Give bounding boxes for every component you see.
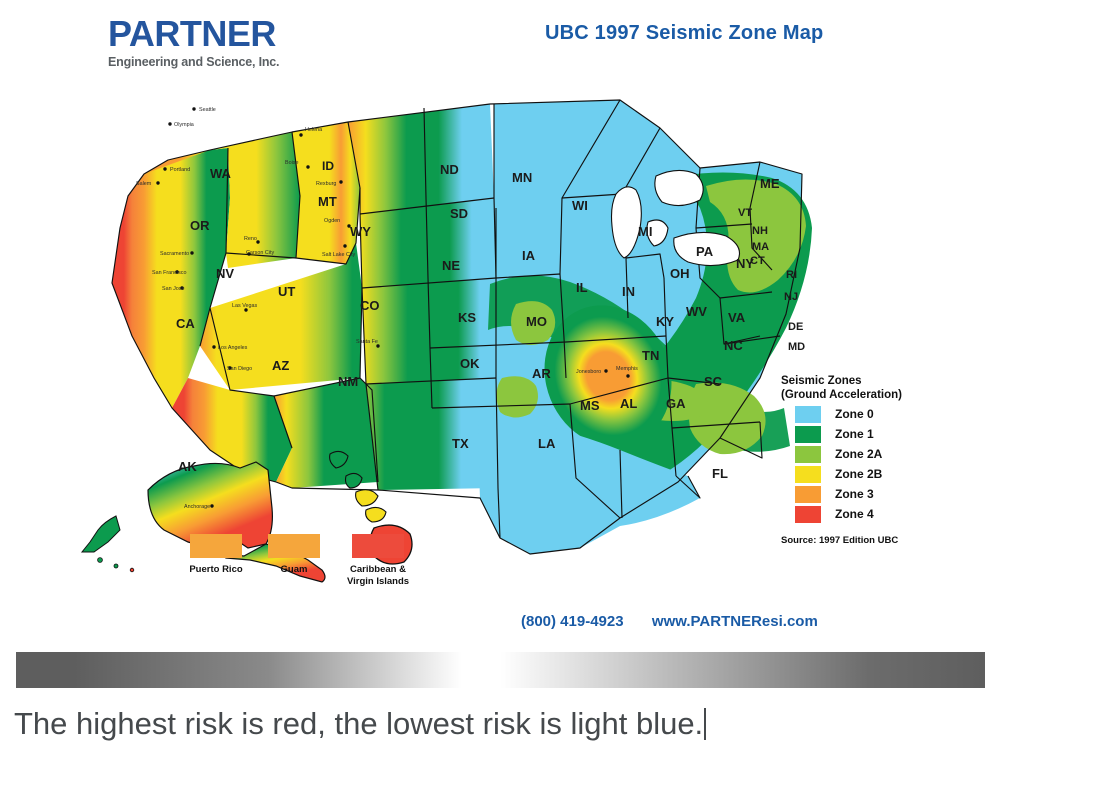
caption-text-line[interactable]: The highest risk is red, the lowest risk… bbox=[14, 706, 706, 742]
territory-label-caribbean: Caribbean &Virgin Islands bbox=[332, 564, 424, 588]
contact-phone[interactable]: (800) 419-4923 bbox=[521, 613, 624, 630]
legend-item-zone-0: Zone 0 bbox=[781, 406, 971, 423]
svg-text:NJ: NJ bbox=[784, 291, 798, 303]
caption-text: The highest risk is red, the lowest risk… bbox=[14, 706, 703, 741]
svg-text:WI: WI bbox=[572, 198, 588, 213]
legend-swatch-zone-2b bbox=[795, 466, 821, 483]
svg-text:Portland: Portland bbox=[170, 167, 190, 173]
svg-text:Sacramento: Sacramento bbox=[160, 251, 189, 257]
svg-text:AR: AR bbox=[532, 366, 551, 381]
legend-swatch-zone-0 bbox=[795, 406, 821, 423]
svg-text:Las Vegas: Las Vegas bbox=[232, 303, 257, 309]
svg-text:Seattle: Seattle bbox=[199, 107, 216, 113]
legend-swatch-zone-3 bbox=[795, 486, 821, 503]
territory-swatch-puerto-rico bbox=[190, 534, 242, 558]
legend-item-zone-1: Zone 1 bbox=[781, 426, 971, 443]
svg-text:Memphis: Memphis bbox=[616, 366, 638, 372]
legend-title-line2: (Ground Acceleration) bbox=[781, 388, 971, 402]
svg-text:Los Angeles: Los Angeles bbox=[218, 345, 248, 351]
svg-text:VA: VA bbox=[728, 310, 746, 325]
legend-label-zone-3: Zone 3 bbox=[835, 487, 874, 501]
svg-text:Salem: Salem bbox=[136, 181, 152, 187]
territory-swatch-caribbean bbox=[352, 534, 404, 558]
legend-item-zone-2a: Zone 2A bbox=[781, 446, 971, 463]
svg-text:AK: AK bbox=[178, 459, 197, 474]
legend-item-zone-3: Zone 3 bbox=[781, 486, 971, 503]
svg-text:Carson City: Carson City bbox=[246, 250, 274, 256]
svg-text:KY: KY bbox=[656, 314, 674, 329]
svg-text:NE: NE bbox=[442, 258, 460, 273]
zone-region-arizona bbox=[274, 378, 378, 488]
svg-text:SD: SD bbox=[450, 206, 468, 221]
svg-text:CA: CA bbox=[176, 316, 195, 331]
svg-text:OH: OH bbox=[670, 266, 690, 281]
svg-text:Santa Fe: Santa Fe bbox=[356, 339, 378, 345]
zone-region-idaho bbox=[292, 122, 360, 264]
svg-text:SC: SC bbox=[704, 374, 723, 389]
svg-text:NV: NV bbox=[216, 266, 234, 281]
brand-tagline: Engineering and Science, Inc. bbox=[108, 55, 408, 69]
svg-text:MS: MS bbox=[580, 398, 600, 413]
svg-text:MO: MO bbox=[526, 314, 547, 329]
legend-label-zone-2b: Zone 2B bbox=[835, 467, 882, 481]
text-cursor bbox=[704, 708, 706, 740]
svg-text:WY: WY bbox=[350, 224, 371, 239]
svg-text:GA: GA bbox=[666, 396, 686, 411]
legend-title-line1: Seismic Zones bbox=[781, 374, 971, 388]
svg-text:MT: MT bbox=[318, 194, 337, 209]
svg-text:NM: NM bbox=[338, 374, 358, 389]
seismic-zone-map: WA OR MT ID ND MN SD WI MI WY NV UT CO N… bbox=[60, 78, 820, 608]
svg-text:FL: FL bbox=[712, 466, 728, 481]
legend-item-zone-2b: Zone 2B bbox=[781, 466, 971, 483]
legend-label-zone-4: Zone 4 bbox=[835, 507, 874, 521]
us-map-svg: WA OR MT ID ND MN SD WI MI WY NV UT CO N… bbox=[60, 78, 820, 608]
zone-region-montana bbox=[348, 104, 494, 214]
svg-text:MD: MD bbox=[788, 341, 805, 353]
svg-text:RI: RI bbox=[786, 269, 797, 281]
svg-text:Salt Lake City: Salt Lake City bbox=[322, 252, 356, 258]
svg-text:Anchorage: Anchorage bbox=[184, 504, 210, 510]
svg-text:OK: OK bbox=[460, 356, 480, 371]
svg-text:WA: WA bbox=[210, 166, 232, 181]
svg-text:UT: UT bbox=[278, 284, 295, 299]
legend-swatch-zone-4 bbox=[795, 506, 821, 523]
page-title: UBC 1997 Seismic Zone Map bbox=[545, 22, 823, 45]
svg-text:DE: DE bbox=[788, 321, 803, 333]
territory-puerto-rico: Puerto Rico bbox=[180, 534, 252, 576]
legend-swatch-zone-1 bbox=[795, 426, 821, 443]
territory-label-guam: Guam bbox=[264, 564, 324, 576]
svg-text:San Francisco: San Francisco bbox=[152, 270, 186, 276]
svg-text:NC: NC bbox=[724, 338, 743, 353]
legend-source: Source: 1997 Edition UBC bbox=[781, 535, 971, 546]
svg-text:WV: WV bbox=[686, 304, 707, 319]
svg-text:IA: IA bbox=[522, 248, 536, 263]
legend-swatch-zone-2a bbox=[795, 446, 821, 463]
svg-text:MA: MA bbox=[752, 241, 769, 253]
legend-label-zone-1: Zone 1 bbox=[835, 427, 874, 441]
map-legend: Seismic Zones (Ground Acceleration) Zone… bbox=[781, 374, 971, 546]
svg-text:Rexburg: Rexburg bbox=[316, 181, 336, 187]
brand-name: PARTNER bbox=[108, 16, 408, 52]
zone-region-pacific-coast bbox=[112, 148, 230, 408]
svg-text:TN: TN bbox=[642, 348, 659, 363]
svg-text:CO: CO bbox=[360, 298, 380, 313]
legend-title: Seismic Zones (Ground Acceleration) bbox=[781, 374, 971, 403]
svg-text:OR: OR bbox=[190, 218, 210, 233]
svg-text:NH: NH bbox=[752, 225, 768, 237]
svg-text:CT: CT bbox=[750, 255, 765, 267]
gradient-divider bbox=[16, 652, 985, 688]
legend-item-zone-4: Zone 4 bbox=[781, 506, 971, 523]
svg-text:Jonesboro: Jonesboro bbox=[576, 369, 601, 375]
svg-text:MN: MN bbox=[512, 170, 532, 185]
svg-text:ID: ID bbox=[322, 159, 334, 173]
territory-caribbean: Caribbean &Virgin Islands bbox=[332, 534, 424, 588]
svg-text:Ogden: Ogden bbox=[324, 218, 340, 224]
legend-label-zone-0: Zone 0 bbox=[835, 407, 874, 421]
svg-text:Olympia: Olympia bbox=[174, 122, 194, 128]
svg-text:PA: PA bbox=[696, 244, 714, 259]
svg-text:AZ: AZ bbox=[272, 358, 289, 373]
svg-text:AL: AL bbox=[620, 396, 637, 411]
territory-guam: Guam bbox=[264, 534, 324, 576]
svg-text:TX: TX bbox=[452, 436, 469, 451]
zone-region-ok-2a bbox=[496, 376, 538, 417]
brand-logo: PARTNER Engineering and Science, Inc. bbox=[108, 16, 408, 69]
svg-text:KS: KS bbox=[458, 310, 476, 325]
svg-text:Reno: Reno bbox=[244, 236, 257, 242]
svg-text:ME: ME bbox=[760, 176, 780, 191]
svg-text:Boise: Boise bbox=[285, 160, 299, 166]
contact-website[interactable]: www.PARTNEResi.com bbox=[652, 613, 818, 630]
contact-bar: (800) 419-4923 www.PARTNEResi.com bbox=[521, 613, 818, 630]
svg-text:LA: LA bbox=[538, 436, 556, 451]
svg-text:VT: VT bbox=[738, 207, 752, 219]
svg-text:San Jose: San Jose bbox=[162, 286, 184, 292]
svg-text:IN: IN bbox=[622, 284, 635, 299]
svg-text:IL: IL bbox=[576, 280, 588, 295]
territory-label-puerto-rico: Puerto Rico bbox=[180, 564, 252, 576]
svg-text:San Diego: San Diego bbox=[227, 366, 252, 372]
svg-text:MI: MI bbox=[638, 224, 652, 239]
legend-label-zone-2a: Zone 2A bbox=[835, 447, 882, 461]
svg-text:Helena: Helena bbox=[305, 127, 322, 133]
territory-swatch-guam bbox=[268, 534, 320, 558]
svg-text:ND: ND bbox=[440, 162, 459, 177]
